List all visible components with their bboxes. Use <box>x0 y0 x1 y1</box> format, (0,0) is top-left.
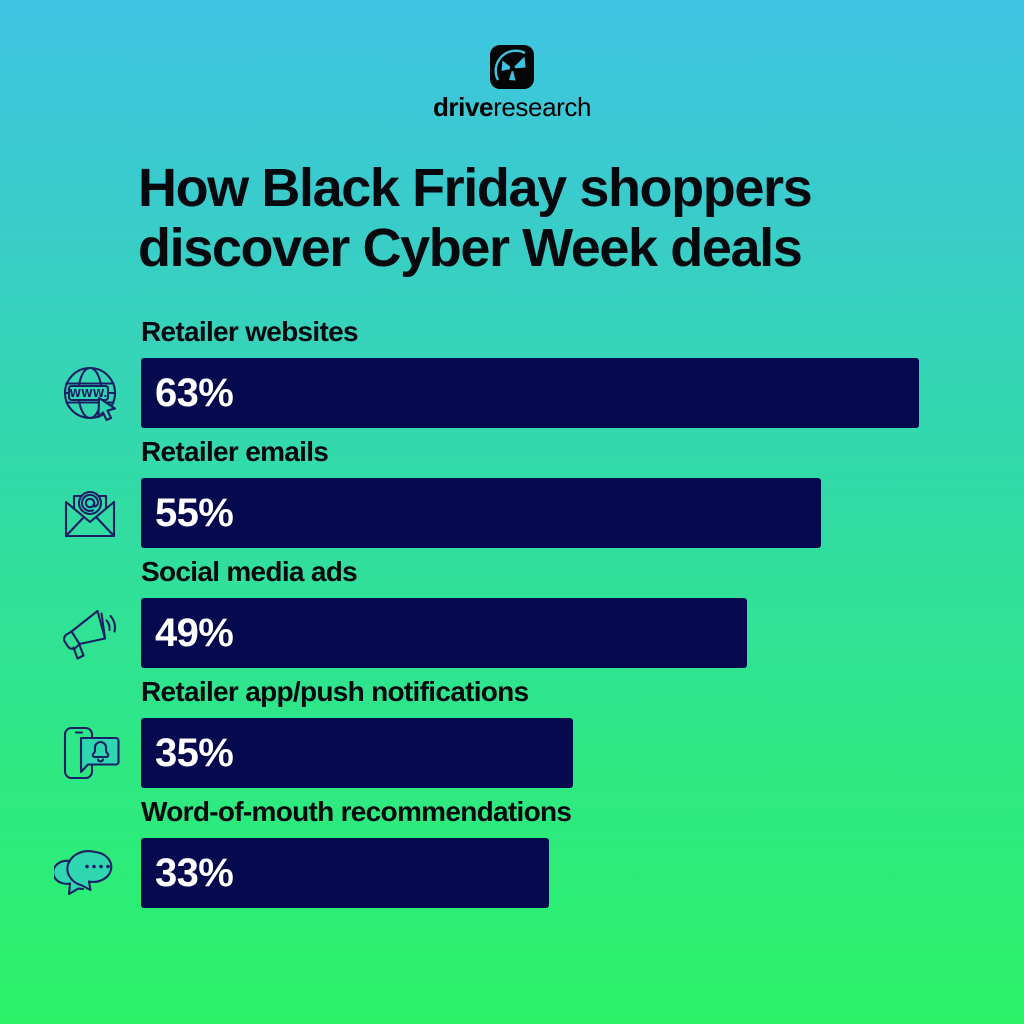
bar-label: Retailer websites <box>141 318 358 346</box>
globe-www-cursor-icon: WWW. <box>54 358 126 428</box>
bar-retailer-websites: 63% <box>141 358 919 428</box>
bar-social-media-ads: 49% <box>141 598 747 668</box>
infographic-canvas: driveresearch How Black Friday shoppers … <box>0 0 1024 1024</box>
drive-research-logo-icon <box>489 44 535 90</box>
megaphone-icon <box>54 598 126 668</box>
svg-text:WWW.: WWW. <box>70 388 108 400</box>
chart-row-body: 33% <box>0 838 1024 908</box>
bar-value: 49% <box>155 613 233 653</box>
bar-label: Retailer emails <box>141 438 328 466</box>
chart-row: Word-of-mouth recommendations <box>0 798 1024 918</box>
page-title-line-2: discover Cyber Week deals <box>138 218 938 278</box>
bar-label: Retailer app/push notifications <box>141 678 528 706</box>
bar-value: 33% <box>155 853 233 893</box>
speech-bubbles-icon <box>54 838 126 908</box>
page-title-line-1: How Black Friday shoppers <box>138 158 938 218</box>
chart-row-body: 49% <box>0 598 1024 668</box>
bar-value: 35% <box>155 733 233 773</box>
phone-bell-notification-icon <box>54 718 126 788</box>
page-title: How Black Friday shoppers discover Cyber… <box>138 158 938 279</box>
bar-label: Social media ads <box>141 558 357 586</box>
envelope-at-email-icon <box>54 478 126 548</box>
chart-row: Retailer app/push notifications 35% <box>0 678 1024 798</box>
chart-row: Retailer emails 55% <box>0 438 1024 558</box>
bar-retailer-emails: 55% <box>141 478 821 548</box>
chart-row-body: 35% <box>0 718 1024 788</box>
brand-word-drive: drive <box>433 92 493 122</box>
chart-row: Social media ads 49% <box>0 558 1024 678</box>
brand-word-research: research <box>493 92 591 122</box>
chart-row-body: WWW. 63% <box>0 358 1024 428</box>
bar-value: 55% <box>155 493 233 533</box>
chart-row: Retailer websites WWW. 63% <box>0 318 1024 438</box>
bar-label: Word-of-mouth recommendations <box>141 798 571 826</box>
bar-chart: Retailer websites WWW. 63% <box>0 318 1024 918</box>
bar-retailer-app-push-notifications: 35% <box>141 718 573 788</box>
brand-logo: driveresearch <box>0 44 1024 120</box>
bar-word-of-mouth-recommendations: 33% <box>141 838 549 908</box>
bar-value: 63% <box>155 373 233 413</box>
brand-wordmark: driveresearch <box>433 94 591 120</box>
chart-row-body: 55% <box>0 478 1024 548</box>
